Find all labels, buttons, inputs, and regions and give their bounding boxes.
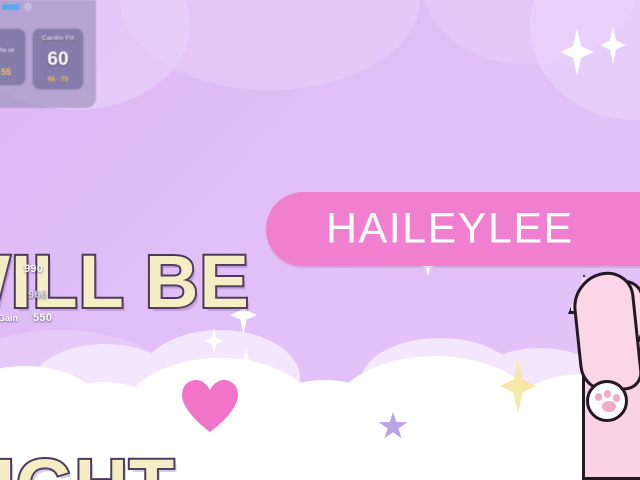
paw-pad [602,401,616,412]
hud-value-1: 990 [24,263,43,275]
vtuber-avatar [562,260,640,480]
game-stat-title: Cardio Fit [33,35,83,42]
brb-line-2: RIGHT [0,452,360,480]
game-stat-range: 55 - 75 [33,76,83,83]
game-stat-left-label: the se [0,47,25,56]
game-stat-card-cardio-fit: Cardio Fit 60 55 - 75 [32,28,84,90]
paw-pad [595,393,602,401]
streamer-name-banner: HAILEYLEE [266,192,640,266]
hud-value-3: 550 [33,312,52,324]
game-panel-topbar [2,4,20,10]
paw-pad [604,390,611,398]
paw-pad [613,394,620,402]
hud-value-2: 966 [28,289,47,301]
hud-label: Gain [0,313,18,323]
avatar-hair-front [570,269,640,395]
streamer-name-label: HAILEYLEE [326,205,574,254]
game-stat-left-value: 55 [0,67,25,77]
game-stat-card-left: the se 55 [0,28,26,86]
avatar-paw-mitten [586,380,628,422]
brb-headline: WILL BE RIGHT BACK [0,112,360,480]
stream-brb-screen: WILL BE RIGHT BACK HAILEYLEE the se 55 C… [0,0,640,480]
game-capture-panel: the se 55 Cardio Fit 60 55 - 75 [0,0,96,108]
game-stat-value: 60 [33,49,83,71]
game-panel-icon [24,3,32,11]
